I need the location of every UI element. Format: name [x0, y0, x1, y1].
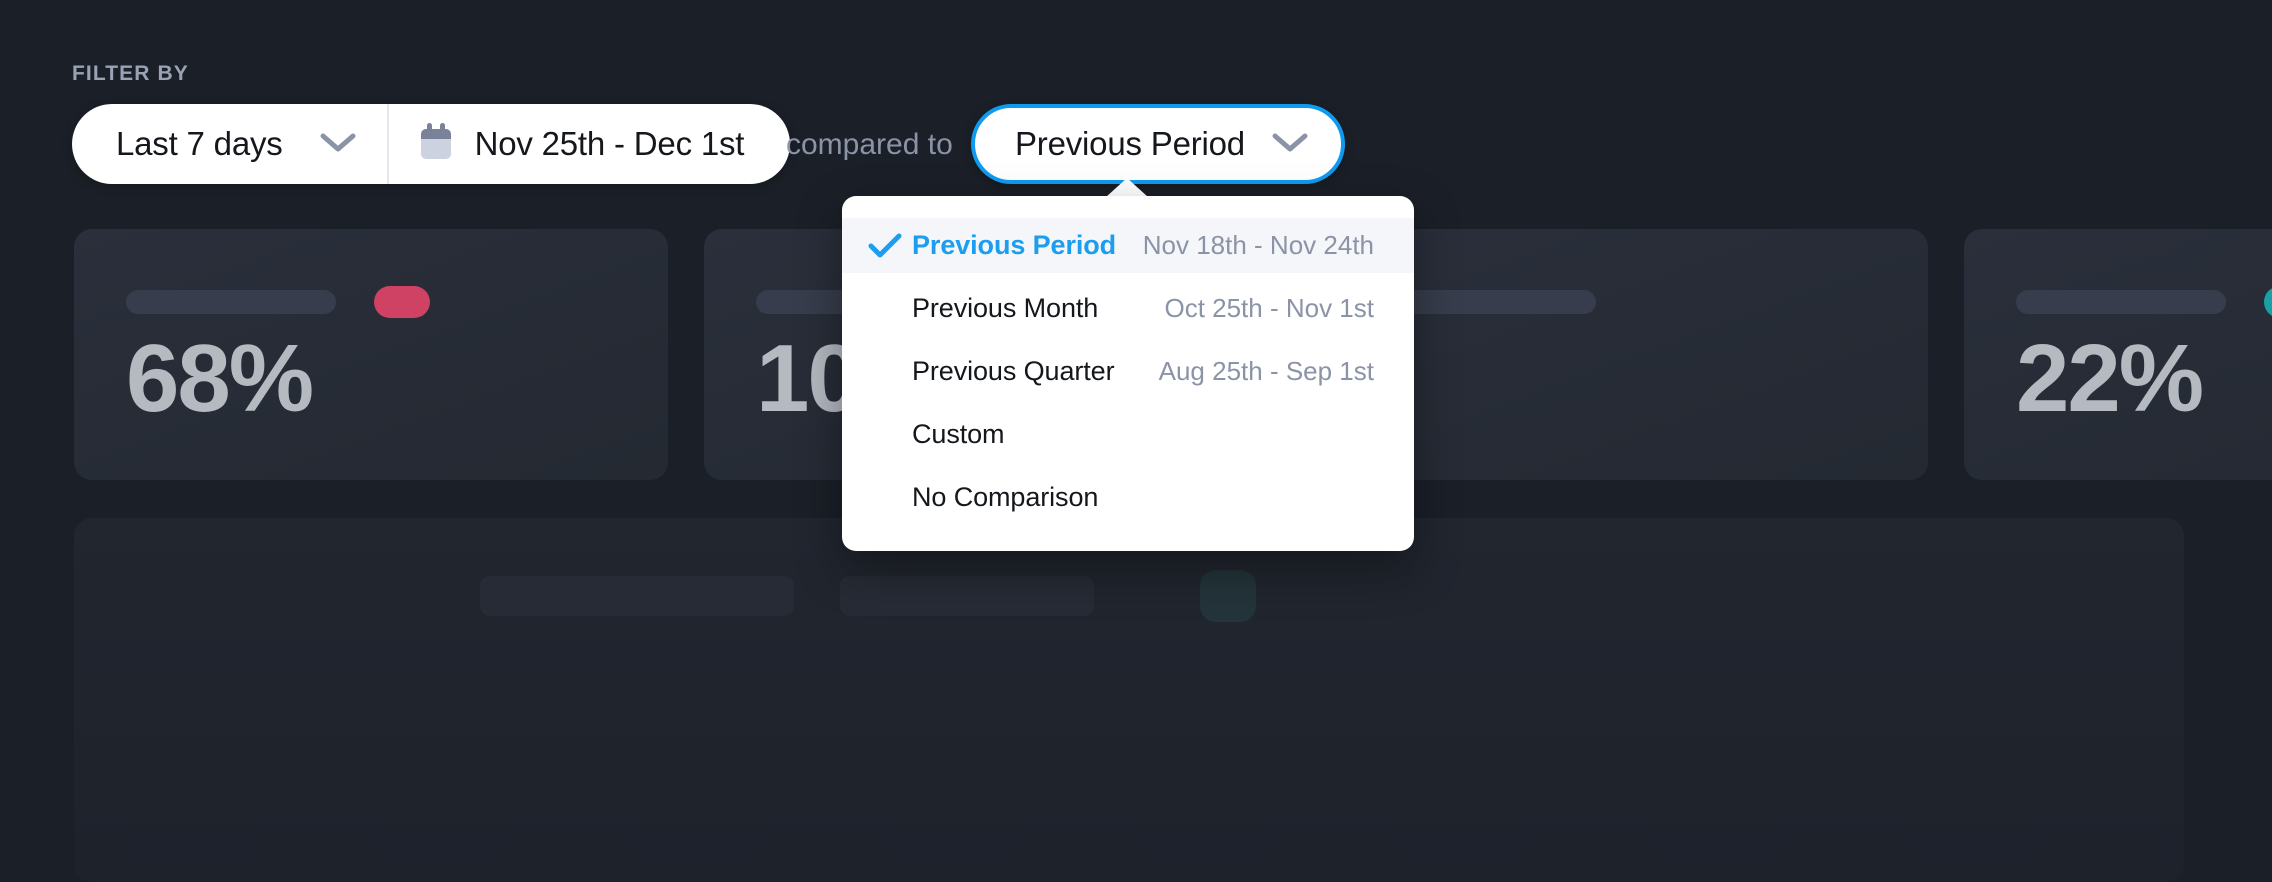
menu-item-no-comparison[interactable]: No Comparison [842, 470, 1414, 525]
skeleton-badge [1200, 570, 1256, 622]
menu-item-previous-quarter[interactable]: Previous Quarter Aug 25th - Sep 1st [842, 344, 1414, 399]
metric-value: 22% [2016, 331, 2202, 427]
metric-card[interactable] [1334, 229, 1928, 480]
date-range-value: Nov 25th - Dec 1st [475, 125, 745, 163]
date-range-field[interactable]: Nov 25th - Dec 1st [389, 104, 791, 184]
menu-item-range: Nov 18th - Nov 24th [1143, 230, 1374, 261]
skeleton-bar [480, 576, 794, 616]
comparison-select-button[interactable]: Previous Period [971, 104, 1345, 184]
calendar-icon [419, 123, 453, 166]
chevron-down-icon [319, 130, 357, 159]
metric-card[interactable]: 22% [1964, 229, 2272, 480]
dashboard-filter-screen: 68% 10 22% FILTER BY Last 7 days [0, 0, 2272, 882]
spacer [842, 273, 1414, 281]
menu-item-range: Oct 25th - Nov 1st [1164, 293, 1374, 324]
spacer [842, 399, 1414, 407]
menu-item-range: Aug 25th - Sep 1st [1159, 356, 1374, 387]
skeleton-title-bar [126, 290, 336, 314]
comparison-select-value: Previous Period [1015, 125, 1245, 163]
menu-item-label: Custom [912, 419, 1004, 450]
skeleton-title-bar [1386, 290, 1596, 314]
skeleton-bar [840, 576, 1094, 616]
menu-item-label: Previous Month [912, 293, 1098, 324]
menu-item-previous-period[interactable]: Previous Period Nov 18th - Nov 24th [842, 218, 1414, 273]
dropdown-caret [1106, 178, 1148, 197]
preset-range-select[interactable]: Last 7 days [72, 104, 387, 184]
menu-item-previous-month[interactable]: Previous Month Oct 25th - Nov 1st [842, 281, 1414, 336]
status-badge [374, 286, 430, 318]
secondary-panel[interactable] [74, 518, 2184, 882]
metric-value: 68% [126, 331, 312, 427]
preset-range-value: Last 7 days [116, 125, 283, 163]
skeleton-title-bar [2016, 290, 2226, 314]
spacer [842, 336, 1414, 344]
date-filter-pill: Last 7 days Nov 25th - Dec 1st [72, 104, 790, 184]
filter-section-label: FILTER BY [72, 62, 189, 86]
spacer [842, 462, 1414, 470]
menu-item-custom[interactable]: Custom [842, 407, 1414, 462]
metric-card[interactable]: 68% [74, 229, 668, 480]
comparison-dropdown-menu: Previous Period Nov 18th - Nov 24th Prev… [842, 196, 1414, 551]
compare-connector-label: compared to [786, 128, 953, 162]
menu-item-label: No Comparison [912, 482, 1098, 513]
status-badge [2264, 286, 2272, 318]
chevron-down-icon [1271, 130, 1309, 159]
menu-item-label: Previous Period [912, 230, 1116, 261]
check-icon [868, 233, 912, 259]
menu-item-label: Previous Quarter [912, 356, 1114, 387]
